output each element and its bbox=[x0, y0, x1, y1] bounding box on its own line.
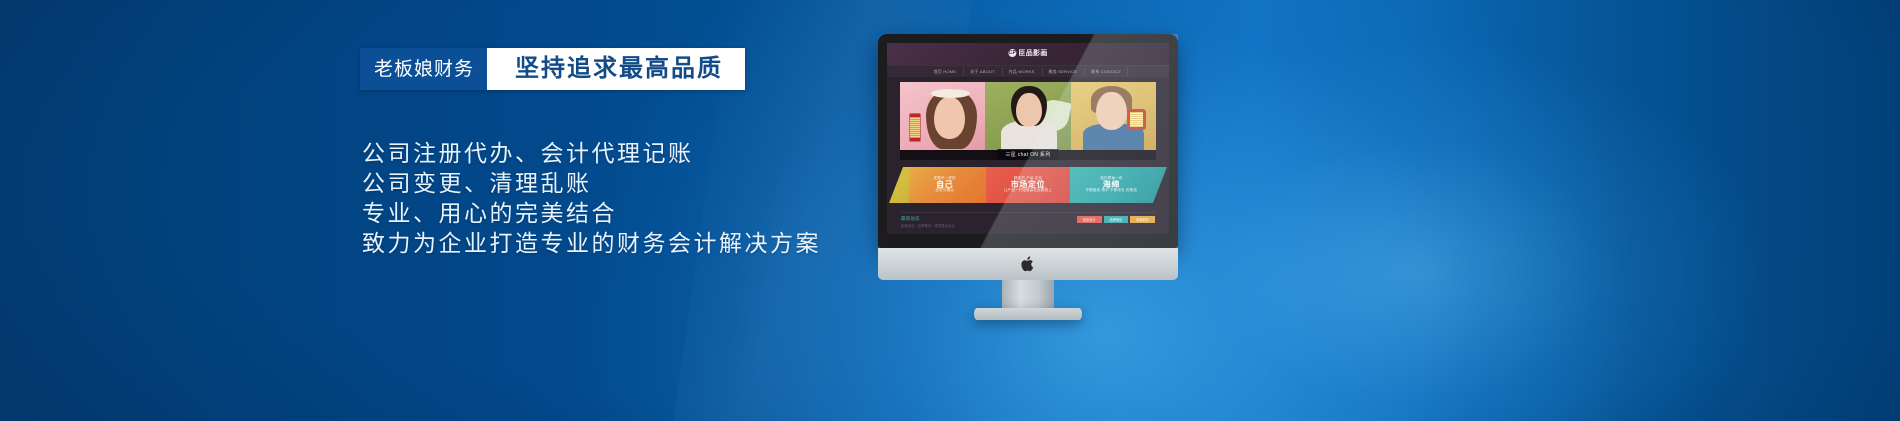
imac-screen: CP 臣品影画 首页 HOME 关于 ABOUT 作品 WORKS 服务 SER… bbox=[887, 43, 1169, 234]
hero-banner: 老板娘财务 坚持追求最高品质 公司注册代办、会计代理记账 公司变更、清理乱账 专… bbox=[0, 0, 1900, 421]
panel-top-text: 精准的 产品 定位 bbox=[1014, 177, 1042, 181]
imac-chin bbox=[878, 248, 1178, 280]
model-face bbox=[1016, 93, 1042, 127]
brand-label: 老板娘财务 bbox=[360, 48, 487, 90]
slide-caption: 三星 chat ON 系列 bbox=[997, 149, 1058, 160]
website-slideshow: 三星 chat ON 系列 bbox=[900, 82, 1156, 150]
copy-line-2: 公司变更、清理乱账 bbox=[362, 168, 821, 198]
copy-line-4: 致力为企业打造专业的财务会计解决方案 bbox=[362, 228, 821, 258]
copy-line-1: 公司注册代办、会计代理记账 bbox=[362, 138, 821, 168]
logo-mark-icon: CP bbox=[1008, 49, 1016, 57]
feature-panel-creative[interactable]: 发现不一样的 自己 创意引爆点 bbox=[903, 167, 986, 203]
slogan-label: 坚持追求最高品质 bbox=[487, 48, 745, 90]
footer-title: 最新动态 bbox=[901, 216, 955, 222]
website-logo: CP 臣品影画 bbox=[1008, 48, 1047, 58]
footer-tag-2[interactable]: 品牌策划 bbox=[1104, 216, 1129, 223]
footer-tag-1[interactable]: 创意设计 bbox=[1077, 216, 1102, 223]
slide-1 bbox=[900, 82, 985, 150]
qr-apple-prop bbox=[1127, 109, 1146, 129]
website-nav: 首页 HOME 关于 ABOUT 作品 WORKS 服务 SERVICE 联系 … bbox=[887, 65, 1169, 77]
website-footer: 最新动态 影像创意 / 品牌策划 / 视觉整合设计 创意设计 品牌策划 影像制作 bbox=[901, 212, 1155, 228]
feature-panel-sponge[interactable]: 我们是每一块 海绵 不断吸收 精华 不断成长 的角色 bbox=[1070, 167, 1153, 203]
phone-prop bbox=[909, 113, 922, 142]
marketing-copy: 公司注册代办、会计代理记账 公司变更、清理乱账 专业、用心的完美结合 致力为企业… bbox=[362, 138, 821, 258]
panel-bot-text: 不断吸收 精华 不断成长 的角色 bbox=[1086, 189, 1138, 193]
copy-line-3: 专业、用心的完美结合 bbox=[362, 198, 821, 228]
footer-tag-3[interactable]: 影像制作 bbox=[1130, 216, 1155, 223]
imac-body: CP 臣品影画 首页 HOME 关于 ABOUT 作品 WORKS 服务 SER… bbox=[878, 34, 1178, 248]
feature-panel-product[interactable]: 精准的 产品 定位 市场定位 让产品一开始就赢在起跑线上 bbox=[986, 167, 1069, 203]
headline-tag: 老板娘财务 坚持追求最高品质 bbox=[360, 48, 745, 90]
footer-subtitle: 影像创意 / 品牌策划 / 视觉整合设计 bbox=[901, 223, 955, 228]
panel-top-text: 发现不一样的 bbox=[934, 177, 956, 181]
apple-logo-icon bbox=[1021, 255, 1036, 273]
model-hat bbox=[931, 89, 970, 98]
website-feature-panels: 发现不一样的 自己 创意引爆点 精准的 产品 定位 市场定位 让产品一开始就赢在… bbox=[903, 167, 1153, 203]
nav-item-about[interactable]: 关于 ABOUT bbox=[963, 67, 1001, 76]
footer-news: 最新动态 影像创意 / 品牌策划 / 视觉整合设计 bbox=[901, 216, 955, 228]
nav-item-home[interactable]: 首页 HOME bbox=[928, 67, 963, 76]
nav-item-service[interactable]: 服务 SERVICE bbox=[1042, 67, 1084, 76]
slide-2 bbox=[985, 82, 1070, 150]
nav-item-works[interactable]: 作品 WORKS bbox=[1002, 67, 1041, 76]
logo-text: 臣品影画 bbox=[1018, 48, 1047, 58]
website-header: CP 臣品影画 bbox=[887, 43, 1169, 65]
panel-bot-text: 创意引爆点 bbox=[935, 189, 954, 193]
nav-item-contact[interactable]: 联系 CONTACT bbox=[1084, 67, 1128, 76]
model-face bbox=[1096, 92, 1127, 130]
model-face bbox=[934, 97, 965, 139]
website-mockup: CP 臣品影画 首页 HOME 关于 ABOUT 作品 WORKS 服务 SER… bbox=[887, 43, 1169, 234]
imac-illustration: CP 臣品影画 首页 HOME 关于 ABOUT 作品 WORKS 服务 SER… bbox=[878, 34, 1178, 306]
imac-stand-foot bbox=[974, 308, 1082, 320]
footer-tags: 创意设计 品牌策划 影像制作 bbox=[1077, 216, 1155, 223]
slide-3 bbox=[1071, 82, 1156, 150]
panel-bot-text: 让产品一开始就赢在起跑线上 bbox=[1004, 189, 1052, 193]
panel-top-text: 我们是每一块 bbox=[1100, 177, 1122, 181]
